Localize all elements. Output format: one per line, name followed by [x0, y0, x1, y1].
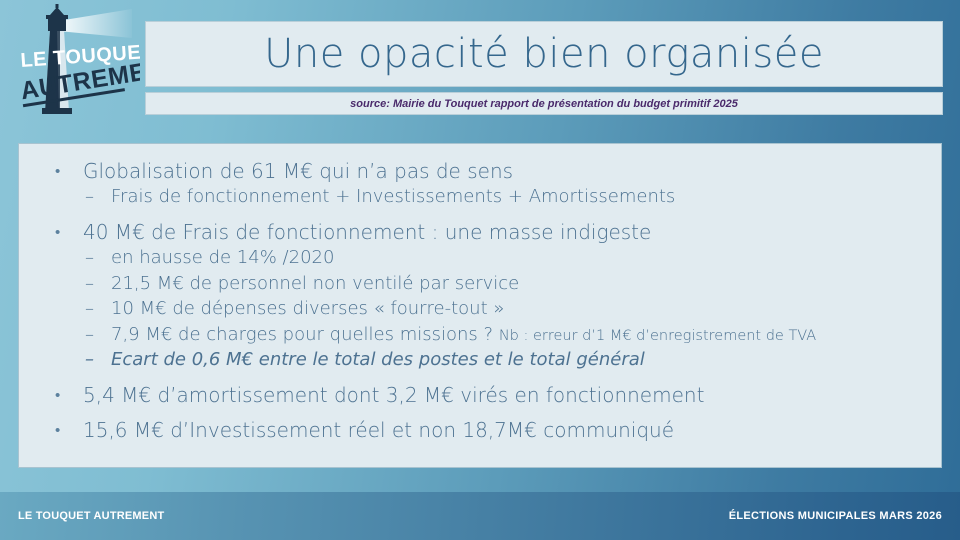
list-item: – 10 M€ de dépenses diverses « fourre-to… [83, 297, 923, 321]
bullet-marker-icon: • [55, 417, 60, 443]
bullet-text: 40 M€ de Frais de fonctionnement : une m… [83, 220, 651, 244]
sub-bullet-marker-icon: – [85, 272, 94, 296]
footer-brand: LE TOUQUET AUTREMENT [18, 510, 164, 522]
bullet-marker-icon: • [55, 382, 60, 408]
sub-bullet-note-prefix: Nb : [499, 328, 533, 344]
sub-bullet-marker-icon: – [85, 185, 94, 209]
slide-footer: LE TOUQUET AUTREMENT ÉLECTIONS MUNICIPAL… [0, 492, 960, 540]
list-item: – 21,5 M€ de personnel non ventilé par s… [83, 272, 923, 296]
bullet-text: 15,6 M€ d’Investissement réel et non 18,… [83, 418, 674, 442]
list-item: – 7,9 M€ de charges pour quelles mission… [83, 323, 923, 347]
bullet-list: • Globalisation de 61 M€ qui n’a pas de … [37, 158, 923, 443]
sub-bullet-text: 21,5 M€ de personnel non ventilé par ser… [111, 273, 519, 294]
sub-bullet-marker-icon: – [85, 323, 94, 347]
list-item: • 5,4 M€ d’amortissement dont 3,2 M€ vir… [37, 382, 923, 408]
sub-bullet-text: Frais de fonctionnement + Investissement… [111, 186, 675, 207]
sub-bullet-text: 7,9 M€ de charges pour quelles missions … [111, 324, 499, 345]
sub-bullet-text: 10 M€ de dépenses diverses « fourre-tout… [111, 298, 504, 319]
sub-bullet-text: en hausse de 14% /2020 [111, 247, 334, 268]
list-item: • 40 M€ de Frais de fonctionnement : une… [37, 219, 923, 373]
logo-le-touquet-autrement: LE TOUQUET AUTREMENT [12, 4, 140, 120]
lighthouse-icon: LE TOUQUET AUTREMENT [12, 4, 140, 120]
footer-campaign: ÉLECTIONS MUNICIPALES MARS 2026 [729, 510, 942, 522]
list-item: – en hausse de 14% /2020 [83, 246, 923, 270]
bullet-marker-icon: • [55, 158, 60, 184]
sub-bullet-list: – en hausse de 14% /2020 – 21,5 M€ de pe… [83, 246, 923, 372]
sub-bullet-list: – Frais de fonctionnement + Investisseme… [83, 185, 923, 209]
list-item: – Ecart de 0,6 M€ entre le total des pos… [83, 348, 923, 372]
source-bar: source: Mairie du Touquet rapport de pré… [145, 92, 943, 115]
list-item: • 15,6 M€ d’Investissement réel et non 1… [37, 417, 923, 443]
sub-bullet-text: Ecart de 0,6 M€ entre le total des poste… [111, 349, 645, 370]
sub-bullet-note-italic: erreur d’1 M€ d’enregistrement de TVA [533, 328, 816, 344]
sub-bullet-marker-icon: – [85, 348, 94, 372]
title-bar: Une opacité bien organisée [145, 21, 943, 87]
source-note: source: Mairie du Touquet rapport de pré… [350, 98, 738, 110]
bullet-text: 5,4 M€ d’amortissement dont 3,2 M€ virés… [83, 383, 704, 407]
bullet-marker-icon: • [55, 219, 60, 245]
list-item: • Globalisation de 61 M€ qui n’a pas de … [37, 158, 923, 210]
slide-root: LE TOUQUET AUTREMENT Une opacité bien or… [0, 0, 960, 540]
list-item: – Frais de fonctionnement + Investisseme… [83, 185, 923, 209]
sub-bullet-marker-icon: – [85, 297, 94, 321]
page-title: Une opacité bien organisée [264, 34, 824, 74]
sub-bullet-marker-icon: – [85, 246, 94, 270]
content-panel: • Globalisation de 61 M€ qui n’a pas de … [18, 143, 942, 468]
bullet-text: Globalisation de 61 M€ qui n’a pas de se… [83, 159, 513, 183]
